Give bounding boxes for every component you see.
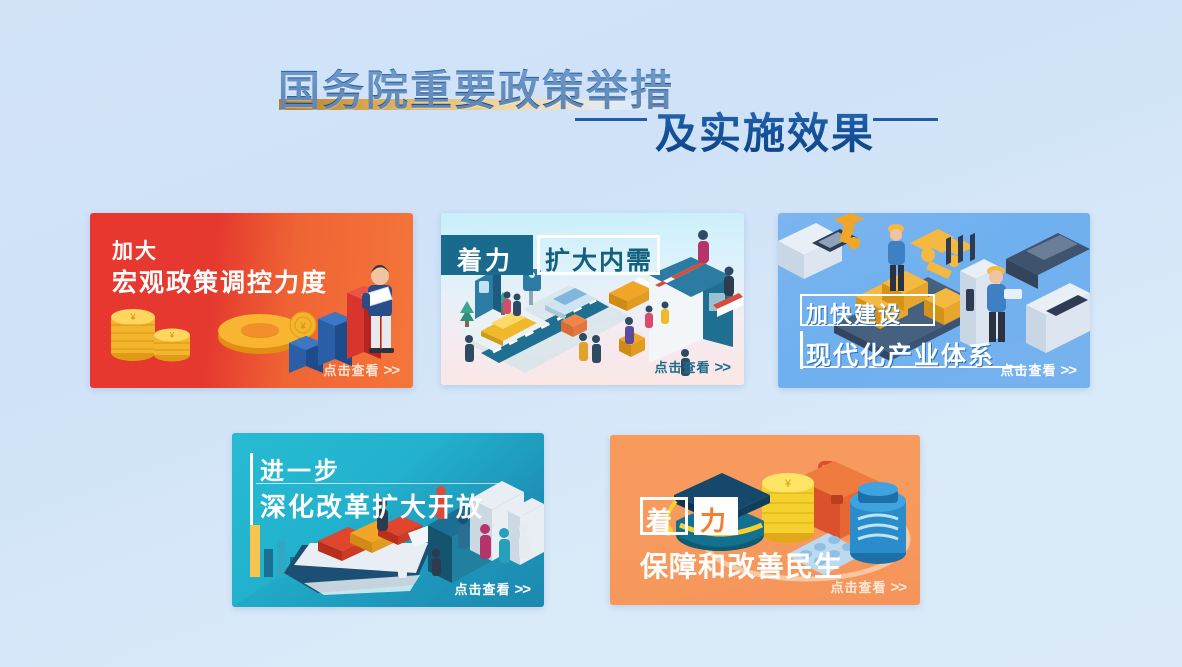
card3-cta-label: 点击查看	[1000, 363, 1056, 378]
card2-heading-2: 扩大内需	[545, 241, 653, 277]
card1-heading-2: 宏观政策调控力度	[112, 263, 328, 299]
page-header: 国务院重要政策举措 及实施效果	[0, 0, 1182, 180]
card3-heading-2: 现代化产业体系	[806, 336, 995, 372]
card4-accent-bar	[250, 453, 253, 525]
card5-heading-1a: 着	[646, 501, 672, 538]
card-reform-opening[interactable]: 进一步 深化改革扩大开放 点击查看>>	[232, 433, 544, 607]
card3-heading-1: 加快建设	[806, 297, 902, 329]
card3-accent-bar	[800, 331, 803, 369]
card5-cta[interactable]: 点击查看>>	[830, 577, 906, 596]
card2-heading-1: 着力	[457, 241, 513, 277]
page-title-line-2: 及实施效果	[655, 100, 875, 161]
card4-cta-chevron-icon: >>	[510, 581, 530, 598]
card2-cta-chevron-icon: >>	[710, 359, 730, 376]
card4-cta[interactable]: 点击查看>>	[454, 579, 530, 598]
card-macro-policy[interactable]: ¥ ¥ ¥	[90, 213, 413, 388]
card-modern-industry[interactable]: 加快建设 现代化产业体系 点击查看>>	[778, 213, 1090, 388]
card3-cta[interactable]: 点击查看>>	[1000, 360, 1076, 379]
card4-cta-label: 点击查看	[454, 582, 510, 597]
card1-cta-chevron-icon: >>	[379, 362, 399, 379]
card1-cta-label: 点击查看	[323, 363, 379, 378]
card5-heading-2: 保障和改善民生	[640, 545, 843, 585]
card5-cta-label: 点击查看	[830, 580, 886, 595]
card4-heading-2: 深化改革扩大开放	[260, 487, 484, 524]
card5-heading-1b: 力	[700, 501, 726, 538]
title-rule-right	[873, 118, 938, 121]
svg-text:¥: ¥	[299, 321, 306, 331]
card2-cta-label: 点击查看	[654, 360, 710, 375]
card1-cta[interactable]: 点击查看>>	[323, 360, 399, 379]
card5-cta-chevron-icon: >>	[886, 579, 906, 596]
svg-text:¥: ¥	[169, 331, 175, 340]
card2-cta[interactable]: 点击查看>>	[654, 357, 730, 376]
title-rule-left	[575, 118, 647, 121]
card-expand-demand[interactable]: 着力 扩大内需 点击查看>>	[441, 213, 744, 385]
card4-heading-1: 进一步	[260, 451, 341, 486]
card3-cta-chevron-icon: >>	[1056, 362, 1076, 379]
svg-text:¥: ¥	[784, 478, 792, 490]
card-peoples-livelihood[interactable]: ¥	[610, 435, 920, 605]
card1-heading-1: 加大	[112, 235, 158, 265]
svg-text:¥: ¥	[129, 312, 136, 322]
page-title-line-1: 国务院重要政策举措	[278, 57, 674, 118]
